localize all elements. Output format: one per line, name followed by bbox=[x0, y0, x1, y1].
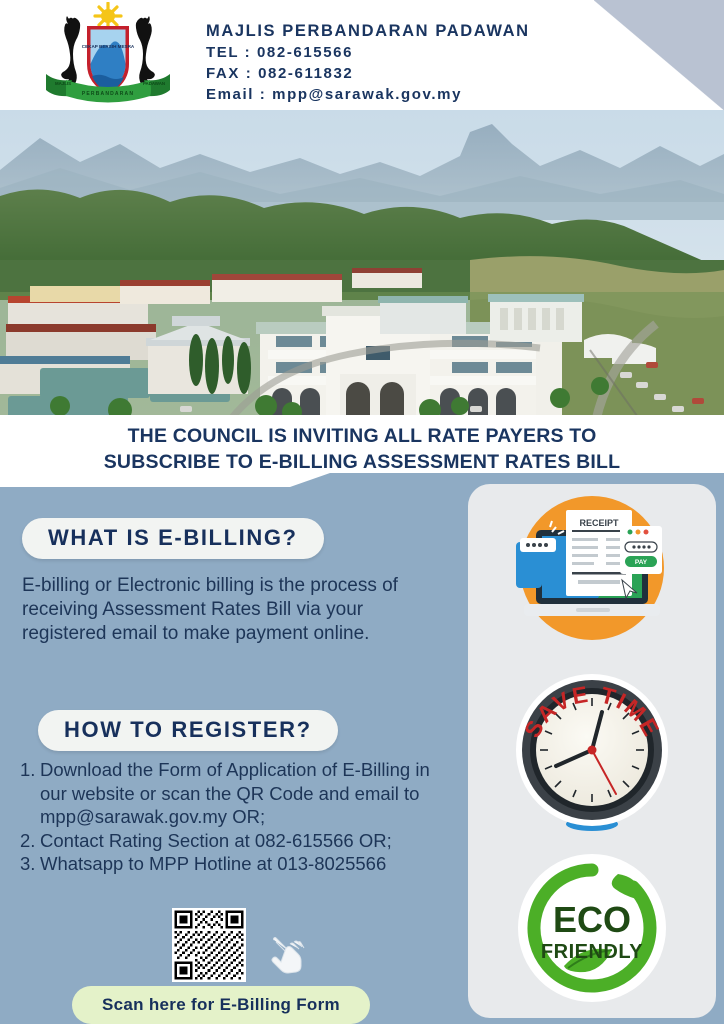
step-text: Download the Form of Application of E-Bi… bbox=[40, 758, 450, 829]
sun-glyph bbox=[95, 3, 121, 29]
shield-glyph: CEKAP BERSIH MESRA bbox=[82, 26, 135, 94]
organisation-name: MAJLIS PERBANDARAN PADAWAN bbox=[206, 20, 530, 42]
what-is-ebilling-body: E-billing or Electronic billing is the p… bbox=[22, 574, 442, 646]
eco-label-top: ECO bbox=[553, 899, 631, 940]
list-item: 2. Contact Rating Section at 082-615566 … bbox=[20, 829, 450, 853]
list-item: 1. Download the Form of Application of E… bbox=[20, 758, 450, 829]
email-line: Email : mpp@sarawak.gov.my bbox=[206, 84, 530, 105]
announcement-banner: THE COUNCIL IS INVITING ALL RATE PAYERS … bbox=[0, 415, 724, 487]
what-is-ebilling-heading: WHAT IS E-BILLING? bbox=[22, 518, 324, 559]
svg-text:PADAWAN: PADAWAN bbox=[143, 81, 165, 86]
header-corner-decoration bbox=[594, 0, 724, 110]
eco-label-bottom: FRIENDLY bbox=[541, 941, 643, 963]
svg-text:PERBANDARAN: PERBANDARAN bbox=[82, 91, 134, 97]
council-logo: CEKAP BERSIH MESRA PERBANDARAN MAJLIS PA… bbox=[32, 2, 184, 108]
step-number: 1. bbox=[20, 758, 40, 782]
banner-text: THE COUNCIL IS INVITING ALL RATE PAYERS … bbox=[0, 423, 724, 475]
list-item: 3. Whatsapp to MPP Hotline at 013-802556… bbox=[20, 852, 450, 876]
svg-text:MAJLIS: MAJLIS bbox=[55, 81, 71, 86]
banner-line-1: THE COUNCIL IS INVITING ALL RATE PAYERS … bbox=[0, 423, 724, 449]
illustration-panel: RECEIPT bbox=[468, 484, 716, 1018]
step-text: Contact Rating Section at 082-615566 OR; bbox=[40, 829, 450, 853]
qr-code[interactable] bbox=[171, 908, 247, 982]
online-payment-illustration: RECEIPT bbox=[468, 484, 716, 662]
step-number: 3. bbox=[20, 852, 40, 876]
save-time-clock-illustration: SAVE TIME bbox=[468, 662, 716, 840]
banner-line-2: SUBSCRIBE TO E-BILLING ASSESSMENT RATES … bbox=[0, 449, 724, 475]
header: CEKAP BERSIH MESRA PERBANDARAN MAJLIS PA… bbox=[0, 0, 724, 110]
header-contact-block: MAJLIS PERBANDARAN PADAWAN TEL : 082-615… bbox=[206, 20, 530, 105]
hero-photo bbox=[0, 110, 724, 420]
step-text: Whatsapp to MPP Hotline at 013-8025566 bbox=[40, 852, 450, 876]
pointing-hand-cursor-icon bbox=[266, 932, 310, 976]
left-cat-figure bbox=[61, 16, 80, 89]
receipt-label: RECEIPT bbox=[579, 518, 619, 528]
right-cat-figure bbox=[136, 16, 155, 89]
svg-text:CEKAP BERSIH MESRA: CEKAP BERSIH MESRA bbox=[82, 44, 135, 49]
how-to-register-heading: HOW TO REGISTER? bbox=[38, 710, 338, 751]
scan-here-button[interactable]: Scan here for E-Billing Form bbox=[72, 986, 370, 1024]
eco-friendly-badge: ECO FRIENDLY bbox=[468, 840, 716, 1018]
telephone-line: TEL : 082-615566 bbox=[206, 42, 530, 63]
register-steps-list: 1. Download the Form of Application of E… bbox=[20, 758, 450, 876]
step-number: 2. bbox=[20, 829, 40, 853]
pay-label: PAY bbox=[635, 559, 648, 566]
poster-root: CEKAP BERSIH MESRA PERBANDARAN MAJLIS PA… bbox=[0, 0, 724, 1024]
fax-line: FAX : 082-611832 bbox=[206, 63, 530, 84]
